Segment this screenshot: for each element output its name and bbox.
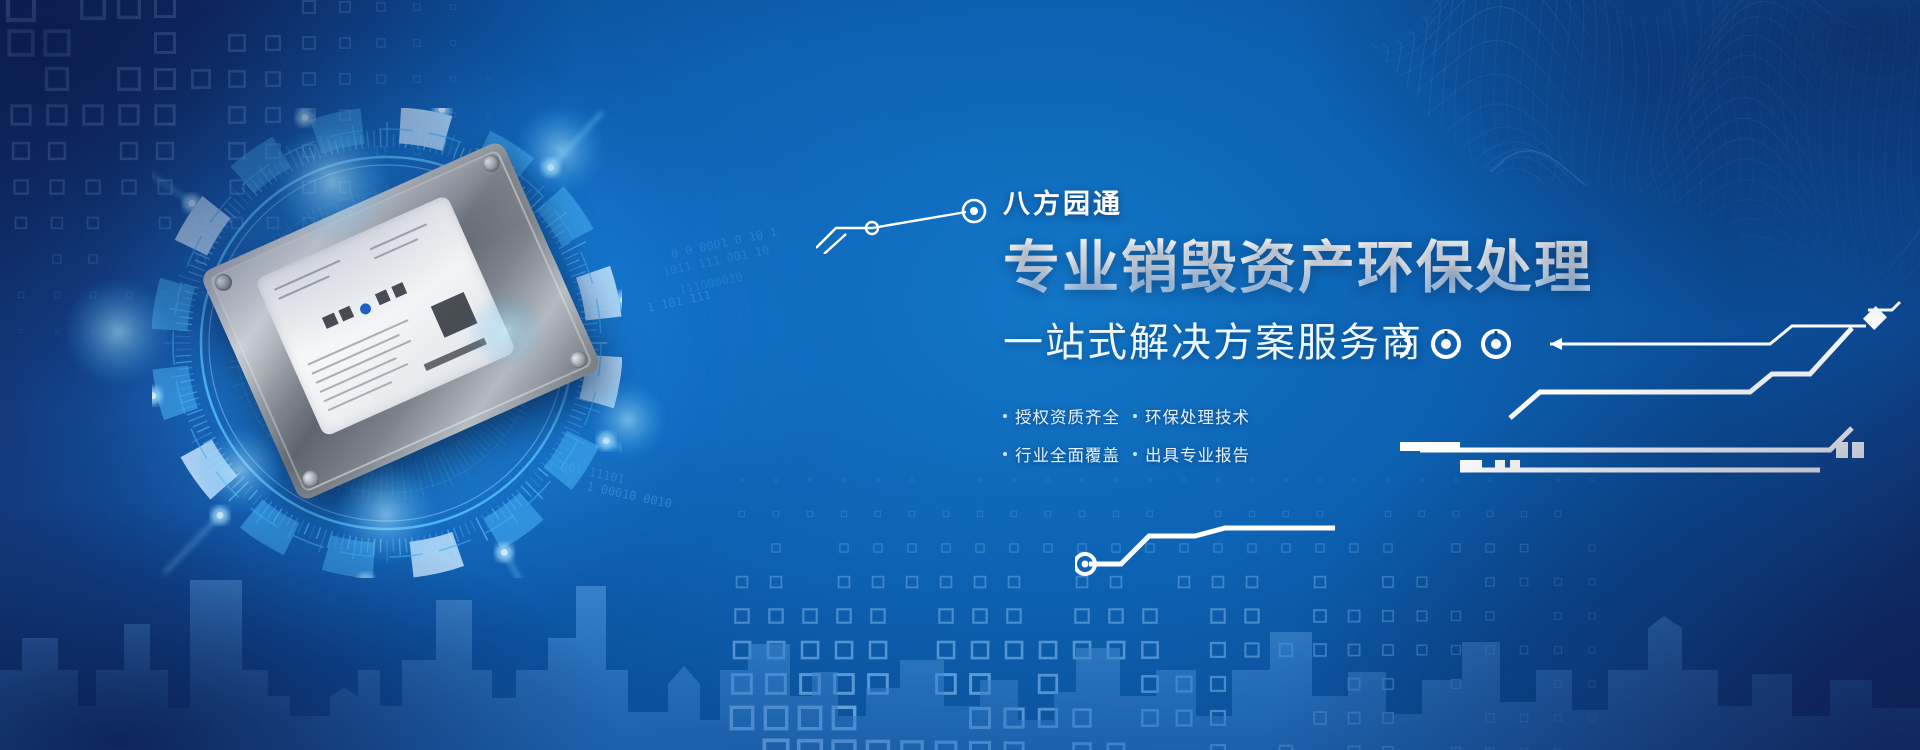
feature-label: 行业全面覆盖	[1015, 442, 1120, 466]
circuit-via-icon	[1400, 331, 1509, 357]
feature-label: 环保处理技术	[1145, 404, 1250, 428]
feature-row: 授权资质齐全 环保处理技术	[1003, 397, 1303, 435]
bullet-dot-icon	[1003, 452, 1007, 456]
promo-banner: 00 0011011 10 0001 00011 11011 101001000…	[0, 0, 1920, 750]
feature-item: 授权资质齐全	[1003, 397, 1133, 435]
feature-item: 行业全面覆盖	[1003, 435, 1133, 473]
feature-row: 行业全面覆盖 出具专业报告	[1003, 435, 1303, 473]
bullet-dot-icon	[1133, 452, 1137, 456]
bullet-dot-icon	[1003, 414, 1007, 418]
feature-item: 环保处理技术	[1133, 397, 1250, 435]
feature-item: 出具专业报告	[1133, 435, 1250, 473]
bullet-dot-icon	[1133, 414, 1137, 418]
brand-name: 八方园通	[1003, 182, 1763, 221]
feature-list: 授权资质齐全 环保处理技术 行业全面覆盖 出具专业报告	[1003, 397, 1303, 473]
feature-label: 出具专业报告	[1145, 442, 1250, 466]
circuit-connector-graphic	[816, 182, 1006, 254]
headline: 专业销毁资产环保处理	[1003, 235, 1763, 301]
city-skyline-silhouette	[0, 520, 1920, 750]
feature-label: 授权资质齐全	[1015, 404, 1120, 428]
